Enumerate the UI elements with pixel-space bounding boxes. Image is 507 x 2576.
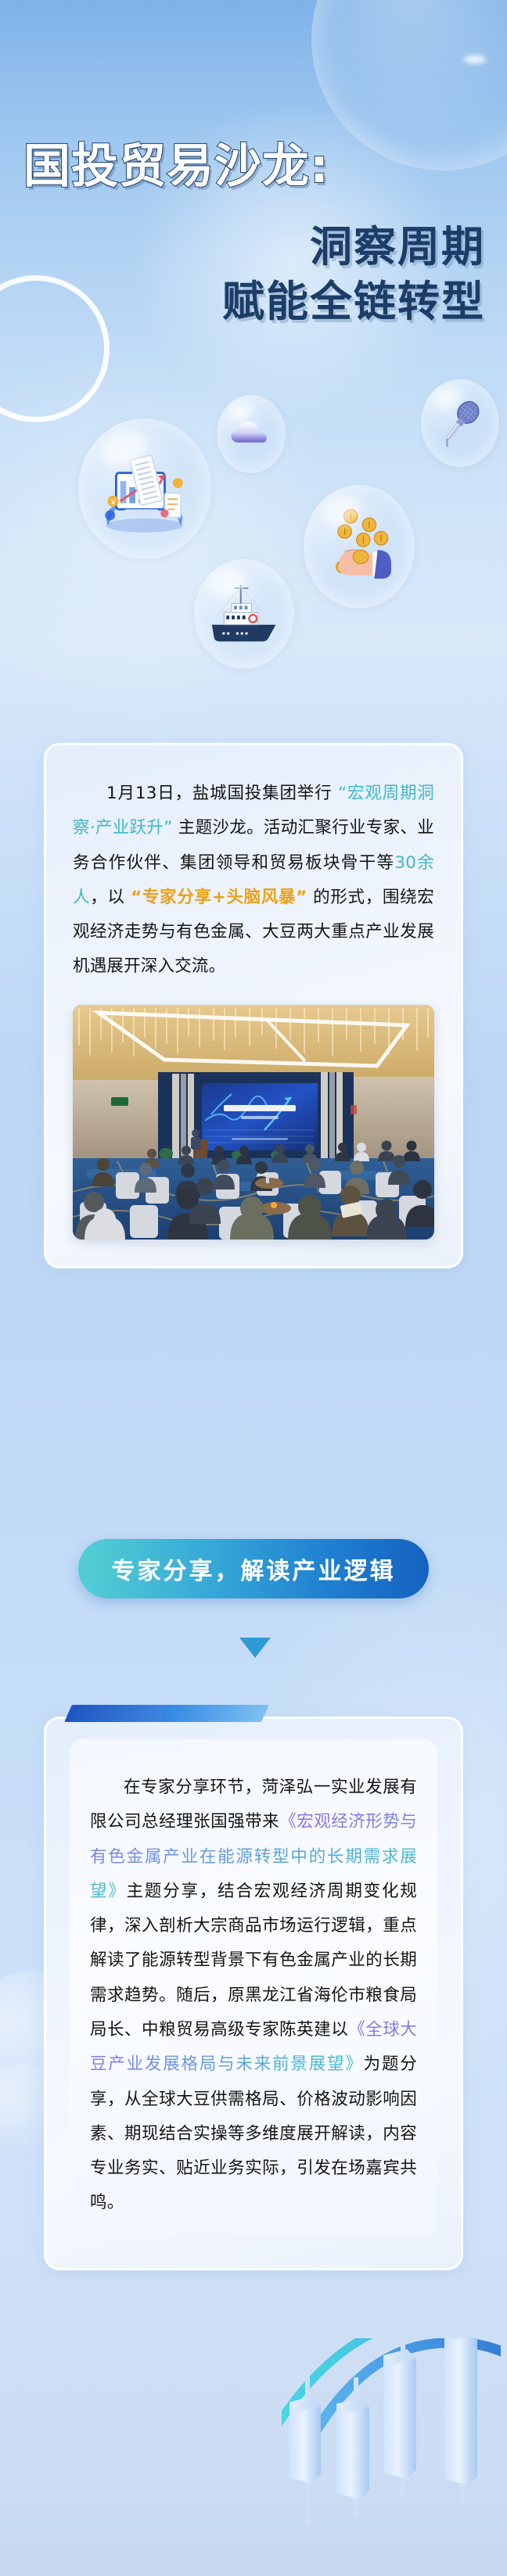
- salon-conference-photo: [73, 1005, 434, 1240]
- section-banner-arrow-icon: [239, 1638, 271, 1658]
- microphone-illustration-icon: [430, 389, 490, 456]
- bubble-microphone: [421, 379, 499, 467]
- poster-title-main: 国投贸易沙龙:: [0, 141, 507, 193]
- bubble-chart: ¥: [78, 418, 211, 559]
- poster-title-sub: 洞察周期 赋能全链转型: [0, 220, 507, 329]
- intro-lead: 1月13日，盐城国投集团举行: [106, 784, 338, 803]
- candlestick-chart-icon: [282, 2338, 501, 2573]
- expert-share-paragraph: 在专家分享环节，菏泽弘一实业发展有限公司总经理张国强带来《宏观经济形势与有色金属…: [90, 1771, 417, 2221]
- poster-title-sub-line1: 洞察周期: [0, 220, 485, 274]
- card-tab-secondary: [160, 1705, 269, 1722]
- intro-card: 1月13日，盐城国投集团举行 “宏观周期洞察·产业跃升” 主题沙龙。活动汇聚行业…: [44, 743, 463, 1268]
- poster-title-block: 国投贸易沙龙: 洞察周期 赋能全链转型: [0, 141, 507, 330]
- poster-title-sub-line2: 赋能全链转型: [0, 274, 485, 329]
- chart-illustration-icon: ¥: [94, 436, 195, 543]
- bubble-cloud: [217, 395, 286, 473]
- section-banner-label: 专家分享，解读产业逻辑: [112, 1552, 396, 1586]
- conference-room-scene: [73, 1005, 434, 1240]
- expert-p2: 主题分享，结合宏观经济周期变化规律，深入剖析大宗商品市场运行逻辑，重点解读了能源…: [90, 1882, 417, 2040]
- expert-share-inner: 在专家分享环节，菏泽弘一实业发展有限公司总经理张国强带来《宏观经济形势与有色金属…: [70, 1739, 437, 2237]
- intro-paragraph: 1月13日，盐城国投集团举行 “宏观周期洞察·产业跃升” 主题沙龙。活动汇聚行业…: [73, 777, 434, 985]
- bubble-coins: [304, 485, 415, 608]
- candlestick-decoration: [282, 2338, 501, 2573]
- section-banner-expert-share: 专家分享，解读产业逻辑: [78, 1539, 429, 1598]
- expert-share-card: 在专家分享环节，菏泽弘一实业发展有限公司总经理张国强带来《宏观经济形势与有色金属…: [44, 1717, 463, 2270]
- card-tab-decoration: [68, 1705, 303, 1724]
- card-tab-primary: [64, 1705, 169, 1722]
- intro-format-quote: “专家分享+头脑风暴”: [131, 888, 307, 907]
- expert-p4: 为题分享，从全球大豆供需格局、价格波动影响因素、期现结合实操等多维度展开解读，内…: [90, 2054, 417, 2212]
- ship-illustration-icon: [206, 572, 282, 655]
- cloud-illustration-icon: [225, 404, 278, 464]
- coins-hand-illustration-icon: [317, 500, 401, 594]
- svg-text:¥: ¥: [110, 497, 116, 505]
- bubble-ship: [194, 559, 294, 669]
- intro-mid: ，以: [90, 888, 131, 907]
- poster-root: 国投贸易沙龙: 洞察周期 赋能全链转型: [0, 0, 507, 2576]
